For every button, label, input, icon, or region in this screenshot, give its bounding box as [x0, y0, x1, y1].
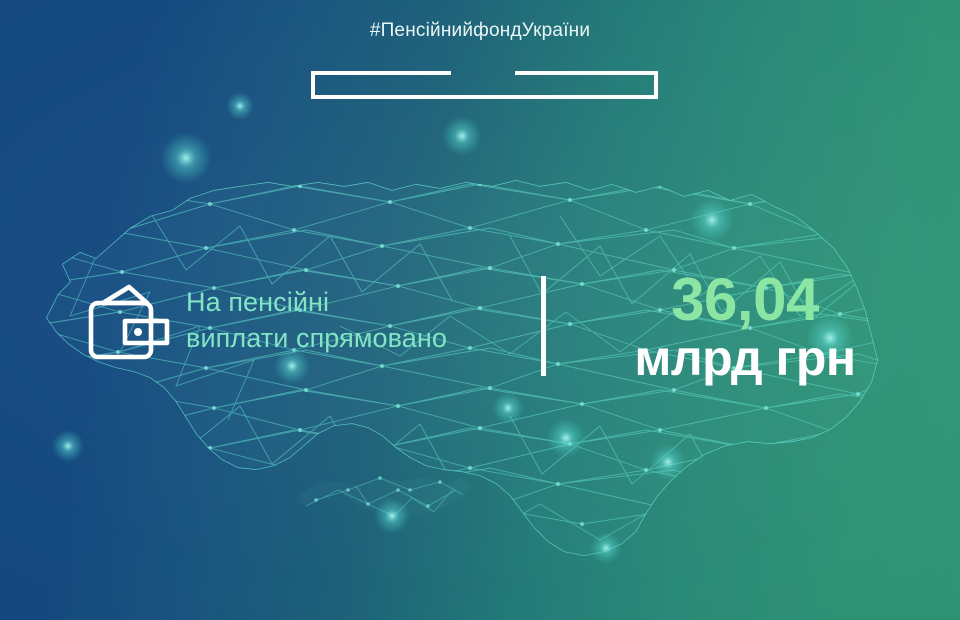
amount-unit: млрд грн	[580, 330, 910, 386]
logo-placeholder-frame	[311, 71, 658, 99]
frame-top-right-segment	[515, 71, 658, 75]
amount-value: 36,04	[580, 270, 910, 330]
statistic-amount: 36,04 млрд грн	[580, 270, 910, 386]
frame-bottom-edge	[311, 95, 658, 99]
wallet-icon	[85, 283, 173, 361]
statistic-caption: На пенсійні виплати спрямовано	[186, 284, 536, 356]
statistic-band: На пенсійні виплати спрямовано 36,04 млр…	[0, 270, 960, 380]
poster-canvas: #ПенсійнийфондУкраїни	[0, 0, 960, 620]
hashtag-text: #ПенсійнийфондУкраїни	[0, 20, 960, 42]
vertical-divider	[541, 276, 546, 376]
caption-line-2: виплати спрямовано	[186, 320, 536, 356]
frame-top-left-segment	[311, 71, 451, 75]
caption-line-1: На пенсійні	[186, 284, 536, 320]
